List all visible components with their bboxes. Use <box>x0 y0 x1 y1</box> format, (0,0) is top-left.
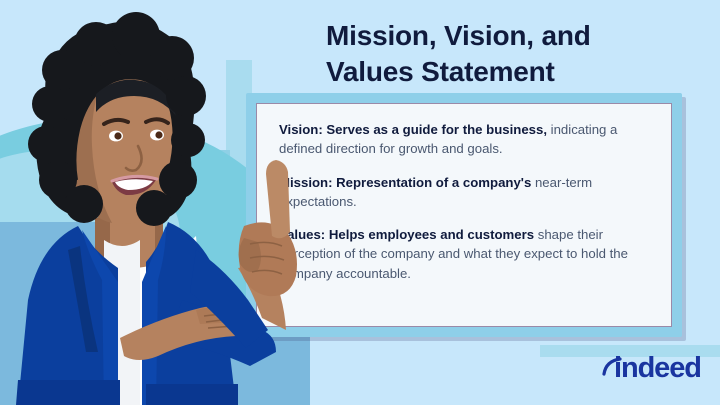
hair-curl-5 <box>166 76 206 116</box>
hair-curl-1 <box>42 50 82 90</box>
hair-curl-11 <box>159 161 197 199</box>
hair-curl-7 <box>28 126 64 162</box>
indeed-logo: indeed <box>600 356 702 390</box>
person-illustration <box>0 0 320 405</box>
pupil-left <box>114 132 121 139</box>
definition-mission: Mission: Representation of a company's n… <box>279 173 649 212</box>
indeed-wordmark: indeed <box>614 354 701 383</box>
blazer-hem-left <box>16 380 120 405</box>
page-title: Mission, Vision, and Values Statement <box>326 18 666 90</box>
page-title-line-1: Mission, Vision, and <box>326 18 666 54</box>
hair-curl-4 <box>150 36 194 80</box>
slide-canvas: Mission, Vision, and Values Statement Vi… <box>0 0 720 405</box>
hair-curl-6 <box>32 86 68 122</box>
whiteboard-content: Vision: Serves as a guide for the busine… <box>279 120 649 310</box>
hair-curl-12 <box>136 190 172 226</box>
blazer-hem-right <box>146 384 238 405</box>
hair-curl-9 <box>65 185 103 223</box>
hair-curl-2 <box>74 22 118 66</box>
pupil-right <box>155 131 162 138</box>
definition-values: Values: Helps employees and customers sh… <box>279 225 649 283</box>
page-title-line-2: Values Statement <box>326 54 666 90</box>
hair-curl-10 <box>171 123 205 157</box>
definition-vision: Vision: Serves as a guide for the busine… <box>279 120 649 159</box>
